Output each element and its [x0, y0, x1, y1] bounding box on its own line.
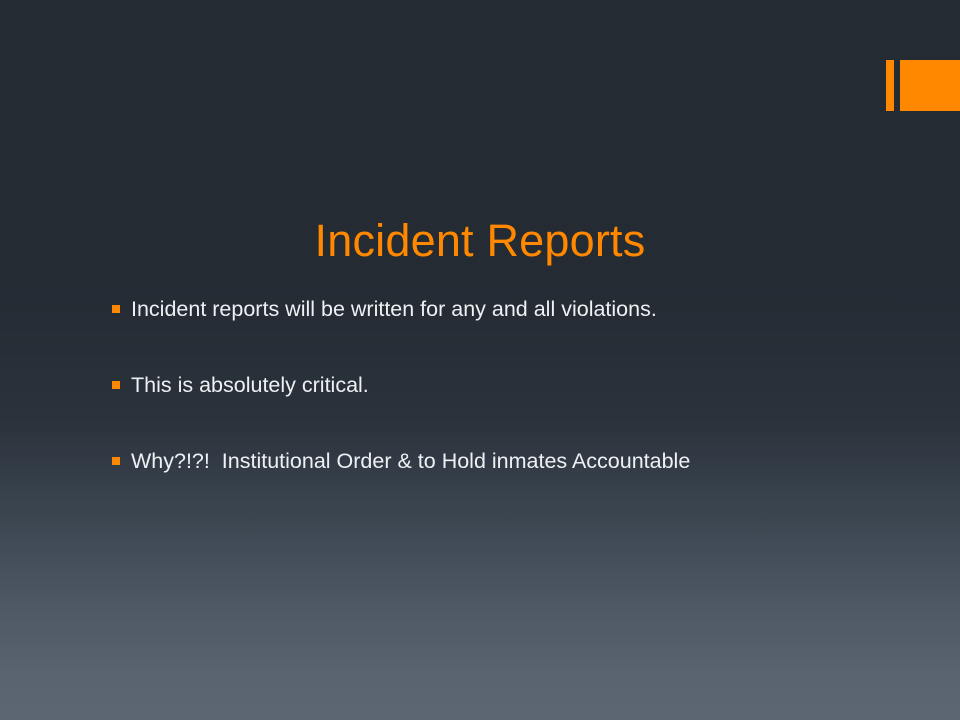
- list-item: Why?!?! Institutional Order & to Hold in…: [112, 448, 912, 524]
- bullet-list: Incident reports will be written for any…: [112, 296, 912, 524]
- top-right-accent-decoration: [886, 60, 960, 111]
- slide: Incident Reports Incident reports will b…: [0, 0, 960, 720]
- slide-title: Incident Reports: [0, 216, 960, 266]
- bullet-square-icon: [112, 305, 120, 313]
- bullet-text: This is absolutely critical.: [131, 372, 369, 398]
- bullet-text: Why?!?! Institutional Order & to Hold in…: [131, 448, 690, 474]
- bullet-text: Incident reports will be written for any…: [131, 296, 657, 322]
- list-item: Incident reports will be written for any…: [112, 296, 912, 372]
- bullet-square-icon: [112, 457, 120, 465]
- accent-bar-icon: [886, 60, 894, 111]
- list-item: This is absolutely critical.: [112, 372, 912, 448]
- accent-block-icon: [900, 60, 960, 111]
- bullet-square-icon: [112, 381, 120, 389]
